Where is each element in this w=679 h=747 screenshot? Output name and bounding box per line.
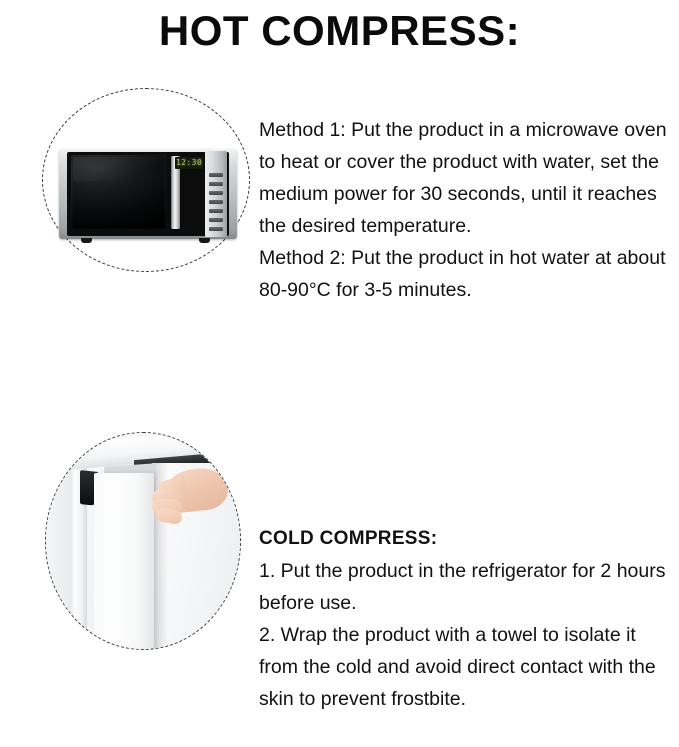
refrigerator-scene	[46, 433, 240, 649]
microwave-photo-clip: 12:30	[43, 89, 249, 271]
microwave-oven-photo: 12:30	[42, 88, 250, 272]
cold-compress-block: COLD COMPRESS:1. Put the product in the …	[259, 459, 675, 747]
microwave-lcd-display: 12:30	[175, 157, 203, 169]
microwave-foot-left	[81, 238, 92, 243]
microwave-button	[209, 191, 223, 195]
microwave-lcd-value: 12:30	[176, 159, 202, 167]
refrigerator-photo	[45, 432, 241, 650]
page-title: HOT COMPRESS:	[0, 8, 679, 53]
microwave-button-column	[209, 173, 223, 231]
hot-compress-instructions: Method 1: Put the product in a microwave…	[259, 114, 675, 306]
microwave-button	[209, 182, 223, 186]
instruction-card: HOT COMPRESS:	[0, 0, 679, 679]
microwave-button	[209, 209, 223, 213]
cold-compress-instructions: 1. Put the product in the refrigerator f…	[259, 560, 671, 710]
microwave-control-panel	[205, 151, 227, 237]
microwave-button	[209, 227, 223, 231]
hand-illustration	[142, 469, 228, 531]
microwave-illustration: 12:30	[59, 149, 237, 245]
microwave-foot-right	[199, 238, 210, 243]
microwave-button	[209, 218, 223, 222]
microwave-button	[209, 200, 223, 204]
cold-compress-heading: COLD COMPRESS:	[259, 523, 675, 555]
microwave-button	[209, 173, 223, 177]
microwave-glass-reflection	[73, 157, 163, 181]
